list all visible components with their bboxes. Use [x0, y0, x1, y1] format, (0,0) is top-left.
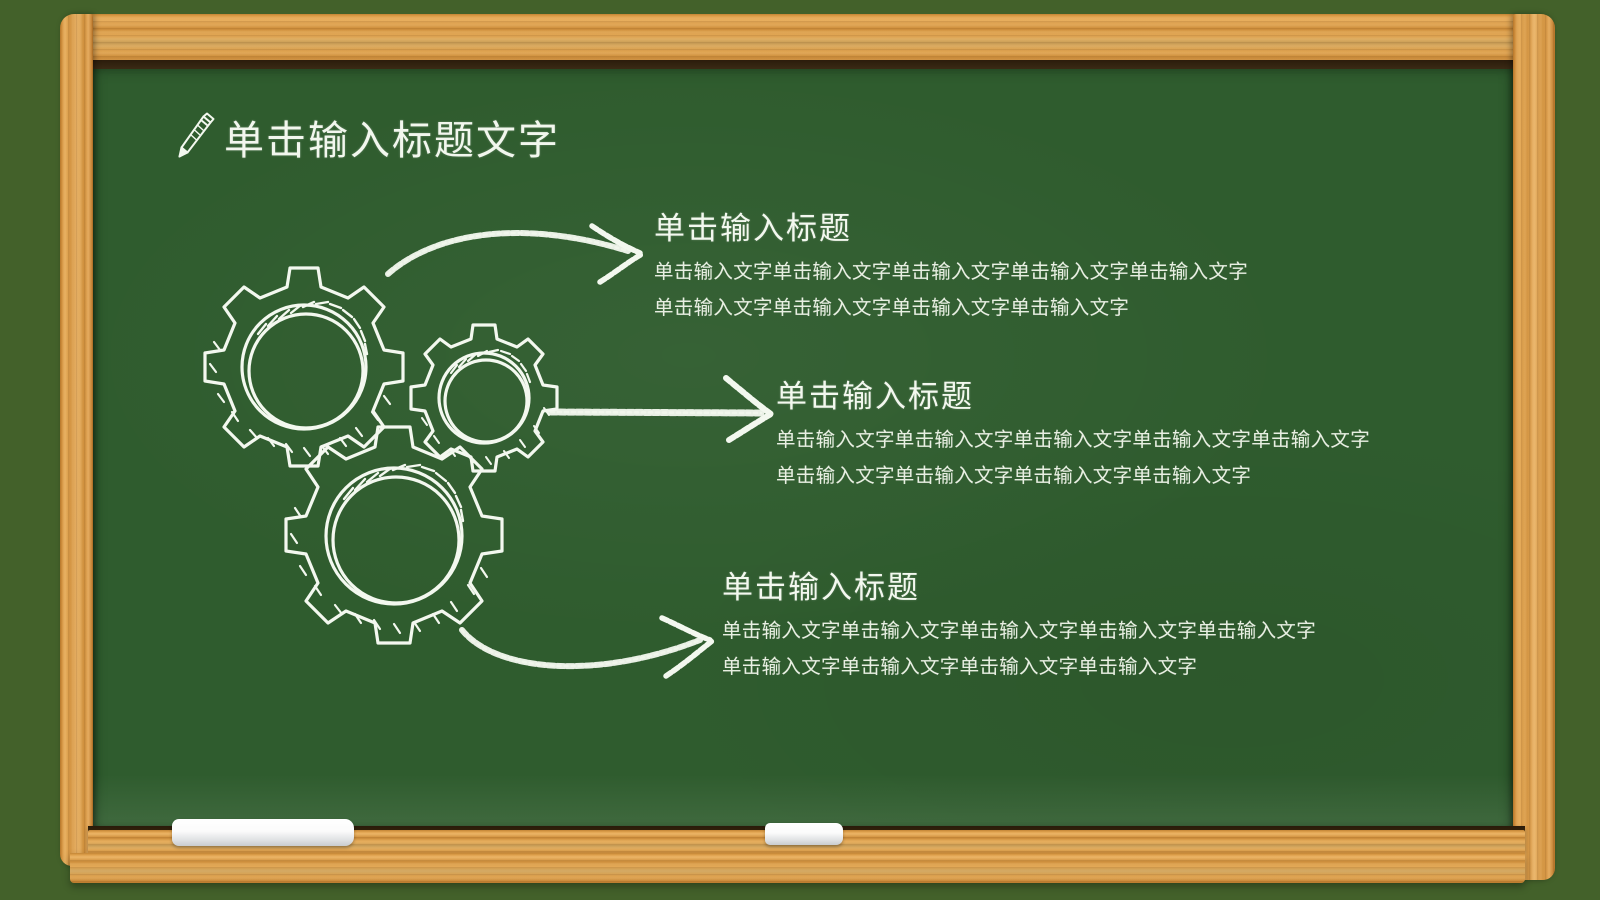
content-block-3: 单击输入标题 单击输入文字单击输入文字单击输入文字单击输入文字单击输入文字单击输…: [722, 562, 1322, 686]
pencil-icon: [172, 111, 216, 163]
slide-stage: 单击输入标题文字: [0, 0, 1600, 900]
page-title-text: 单击输入标题文字: [224, 108, 560, 166]
curved-arrow-right-down-icon: [378, 206, 668, 302]
page-title: 单击输入标题文字: [172, 108, 560, 166]
chalk-tray-apron: [70, 853, 1525, 883]
content-block-2: 单击输入标题 单击输入文字单击输入文字单击输入文字单击输入文字单击输入文字单击输…: [776, 371, 1376, 495]
gear-top-left: [205, 268, 403, 466]
content-block-3-body: 单击输入文字单击输入文字单击输入文字单击输入文字单击输入文字单击输入文字单击输入…: [722, 614, 1322, 686]
content-block-1-body: 单击输入文字单击输入文字单击输入文字单击输入文字单击输入文字单击输入文字单击输入…: [654, 255, 1254, 327]
frame-left-post: [60, 14, 93, 866]
frame-top-rail: [88, 14, 1525, 62]
content-block-1-heading: 单击输入标题: [654, 203, 1254, 248]
content-block-3-heading: 单击输入标题: [722, 562, 1322, 607]
content-block-2-heading: 单击输入标题: [776, 371, 1376, 416]
gear-right: [411, 325, 557, 471]
frame-right-post: [1513, 14, 1555, 880]
straight-arrow-right-icon: [543, 366, 793, 450]
content-block-1: 单击输入标题 单击输入文字单击输入文字单击输入文字单击输入文字单击输入文字单击输…: [654, 203, 1254, 327]
chalk-stick-1[interactable]: [172, 819, 354, 846]
curved-arrow-right-up-icon: [448, 596, 738, 692]
frame-top-shadow: [88, 60, 1525, 69]
chalk-stick-2[interactable]: [765, 823, 843, 845]
content-block-2-body: 单击输入文字单击输入文字单击输入文字单击输入文字单击输入文字单击输入文字单击输入…: [776, 423, 1376, 495]
